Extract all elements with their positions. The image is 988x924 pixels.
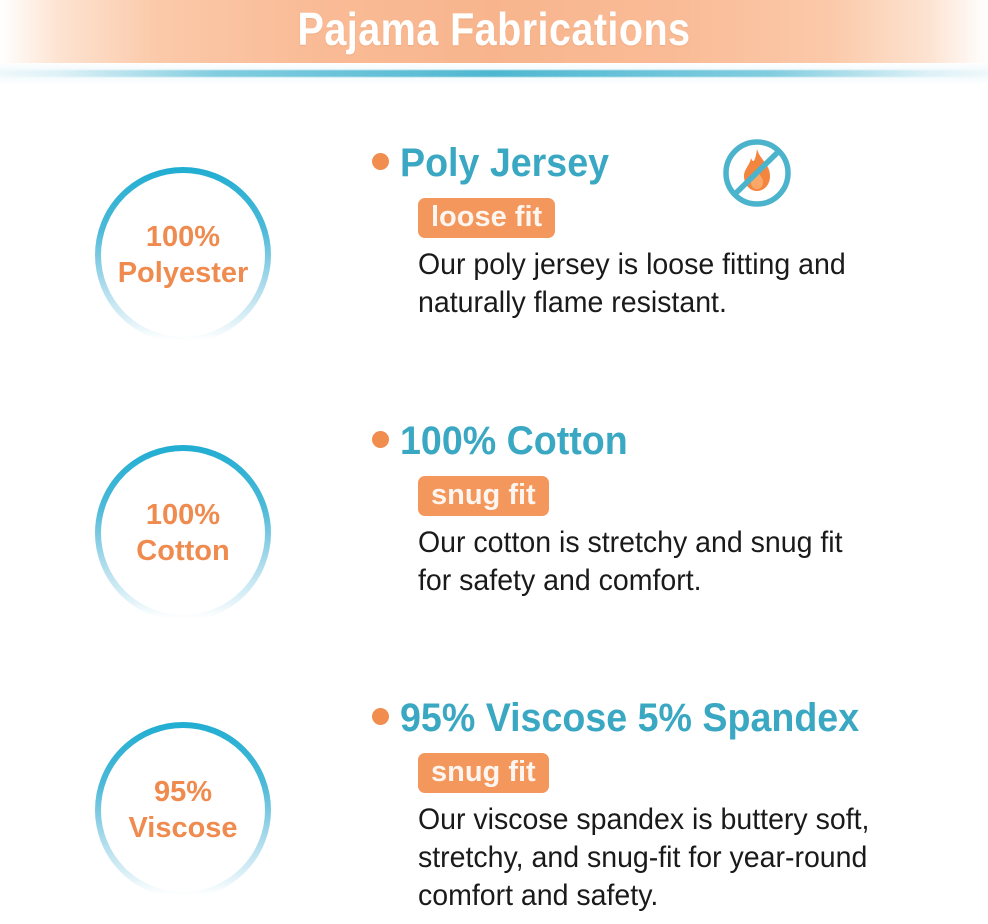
bullet-icon bbox=[372, 708, 389, 725]
description-line: for safety and comfort. bbox=[418, 562, 988, 600]
badge-line-1: 100% bbox=[146, 497, 220, 533]
description-line: Our viscose spandex is buttery soft, bbox=[418, 801, 988, 839]
badge-line-1: 100% bbox=[146, 219, 220, 255]
section-title-row: 100% Cotton bbox=[372, 418, 982, 470]
badge-text: 100% Polyester bbox=[90, 162, 276, 348]
page-header-banner: Pajama Fabrications bbox=[0, 0, 988, 63]
bullet-icon bbox=[372, 153, 389, 170]
badge-line-1: 95% bbox=[154, 774, 212, 810]
fit-badge: snug fit bbox=[418, 753, 549, 793]
badge-line-2: Polyester bbox=[118, 255, 249, 291]
fabric-content: 100% Cotton snug fit Our cotton is stret… bbox=[372, 418, 982, 600]
fit-badge: snug fit bbox=[418, 476, 549, 516]
section-title: Poly Jersey bbox=[400, 140, 609, 186]
badge-line-2: Cotton bbox=[136, 533, 229, 569]
section-title: 95% Viscose 5% Spandex bbox=[400, 695, 859, 741]
badge-text: 100% Cotton bbox=[90, 440, 276, 626]
badge-line-2: Viscose bbox=[128, 810, 237, 846]
fabric-badge: 100% Polyester bbox=[90, 162, 280, 362]
badge-text: 95% Viscose bbox=[90, 717, 276, 903]
section-description: Our poly jersey is loose fitting and nat… bbox=[418, 246, 988, 322]
description-line: stretchy, and snug-fit for year-round bbox=[418, 839, 988, 877]
page-title: Pajama Fabrications bbox=[69, 0, 919, 58]
description-line: naturally flame resistant. bbox=[418, 284, 988, 322]
description-line: Our poly jersey is loose fitting and bbox=[418, 246, 988, 284]
description-line: comfort and safety. bbox=[418, 877, 988, 915]
fabric-content: 95% Viscose 5% Spandex snug fit Our visc… bbox=[372, 695, 982, 915]
bullet-icon bbox=[372, 431, 389, 448]
fabric-content: Poly Jersey loose fit Our poly jersey is… bbox=[372, 140, 982, 322]
section-description: Our cotton is stretchy and snug fit for … bbox=[418, 524, 988, 600]
header-underline bbox=[0, 70, 988, 77]
section-title: 100% Cotton bbox=[400, 418, 628, 464]
no-flame-icon bbox=[720, 136, 794, 210]
section-title-row: Poly Jersey bbox=[372, 140, 982, 192]
description-line: Our cotton is stretchy and snug fit bbox=[418, 524, 988, 562]
fabric-badge: 100% Cotton bbox=[90, 440, 280, 640]
fit-badge: loose fit bbox=[418, 198, 555, 238]
section-description: Our viscose spandex is buttery soft, str… bbox=[418, 801, 988, 915]
fabric-badge: 95% Viscose bbox=[90, 717, 280, 917]
section-title-row: 95% Viscose 5% Spandex bbox=[372, 695, 982, 747]
